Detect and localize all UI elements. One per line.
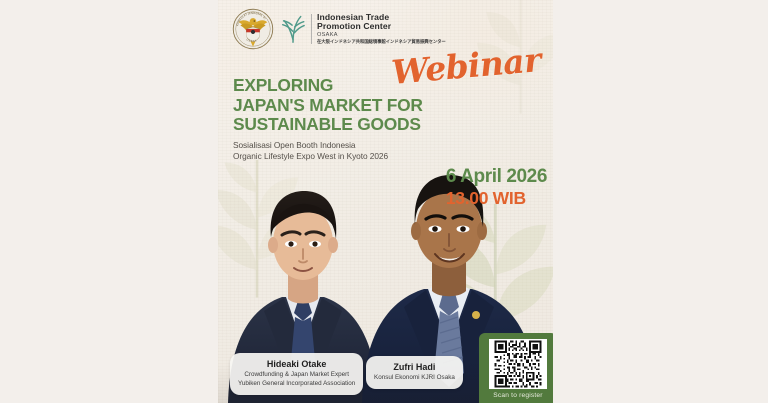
logo-divider [311, 14, 312, 44]
event-date: 6 April 2026 [446, 166, 547, 188]
itpc-leaf-mark-icon [280, 14, 306, 44]
event-datetime: 6 April 2026 13.00 WIB [446, 166, 547, 208]
title-line-3: SUSTAINABLE GOODS [233, 115, 458, 135]
page-title: EXPLORING JAPAN'S MARKET FOR SUSTAINABLE… [233, 76, 458, 135]
speaker-name: Zufri Hadi [374, 361, 455, 373]
speaker-nameplate-2: Zufri Hadi Konsul Ekonomi KJRI Osaka [366, 356, 463, 389]
title-line-1: EXPLORING [233, 76, 458, 96]
title-line-2: JAPAN'S MARKET FOR [233, 96, 458, 116]
webinar-poster: KONSULAT JENDERAL RI OSAKA [218, 0, 553, 403]
org-city: OSAKA [317, 33, 446, 39]
speaker-role-line-1: Konsul Ekonomi KJRI Osaka [374, 374, 455, 383]
speaker-role-line-1: Crowdfunding & Japan Market Expert [238, 371, 355, 380]
header-logos: KONSULAT JENDERAL RI OSAKA [232, 8, 446, 50]
screenshot-canvas: KONSULAT JENDERAL RI OSAKA [0, 0, 768, 403]
subtitle-line-1: Sosialisasi Open Booth Indonesia [233, 140, 443, 151]
event-time: 13.00 WIB [446, 188, 547, 208]
garuda-emblem-icon: KONSULAT JENDERAL RI OSAKA [232, 8, 274, 50]
qr-registration-panel[interactable]: Scan to register [479, 333, 553, 403]
speaker-nameplate-1: Hideaki Otake Crowdfunding & Japan Marke… [230, 353, 363, 395]
itpc-logo: Indonesian Trade Promotion Center OSAKA … [280, 13, 446, 44]
qr-caption: Scan to register [493, 392, 542, 399]
org-name-line2: Promotion Center [317, 22, 446, 31]
org-japanese-name: 在大阪インドネシア共和国総領事館インドネシア貿易振興センター [317, 40, 446, 44]
speaker-role-line-2: Yubiken General Incorporated Association [238, 380, 355, 389]
page-background-right [553, 0, 768, 403]
page-background-left [0, 0, 218, 403]
speaker-name: Hideaki Otake [238, 358, 355, 370]
qr-code-icon[interactable] [489, 339, 547, 389]
